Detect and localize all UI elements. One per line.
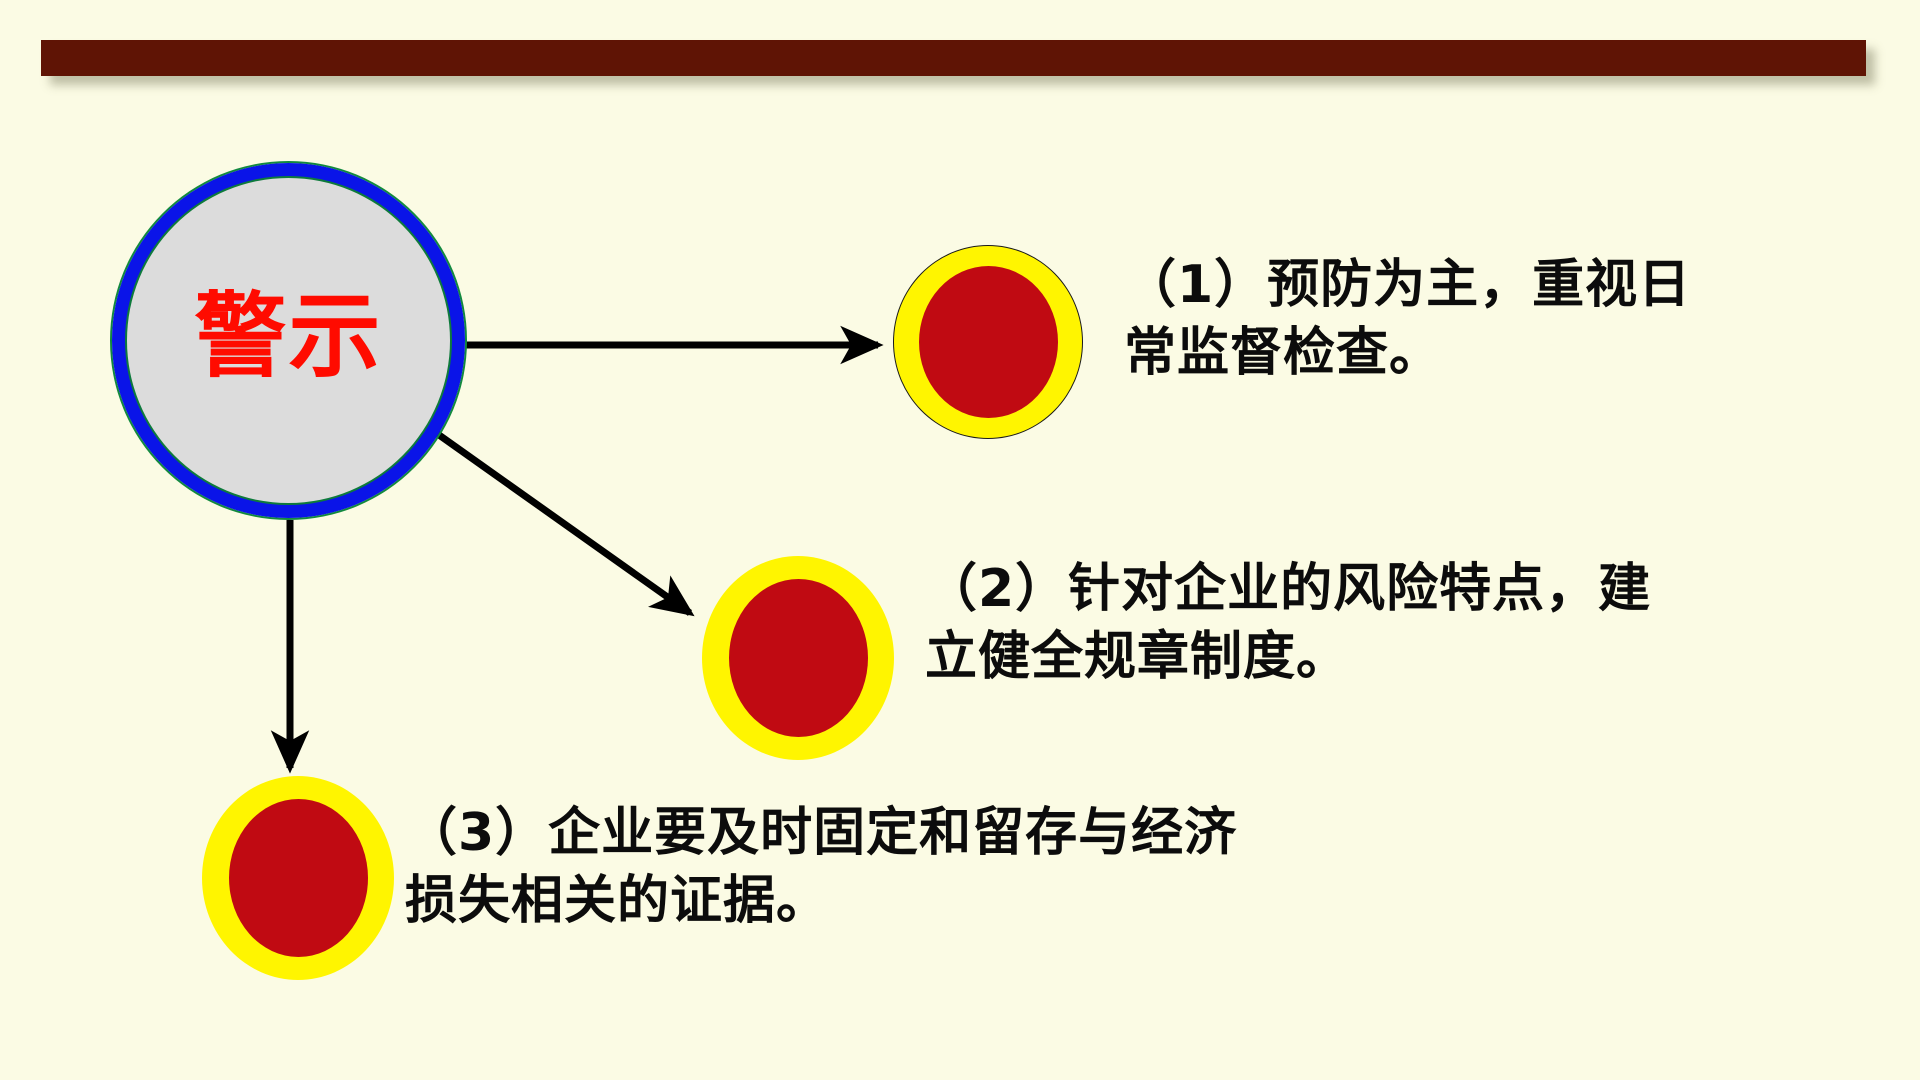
item-text-3: （3）企业要及时固定和留存与经济 损失相关的证据。 <box>405 800 1355 935</box>
item-text-1: （1）预防为主，重视日 常监督检查。 <box>1124 252 1844 387</box>
main-node-warning-circle[interactable]: 警示 <box>112 163 465 518</box>
arrow-main-to-item-2 <box>432 430 690 613</box>
slide-canvas: 警示 （1）预防为主，重视日 常监督检查。 （2）针对企业的风险特点，建 立健全… <box>0 0 1920 1080</box>
item-text-2: （2）针对企业的风险特点，建 立健全规章制度。 <box>925 556 1745 691</box>
decorative-title-bar <box>41 40 1866 76</box>
bullet-core-3 <box>229 799 368 957</box>
main-node-label: 警示 <box>194 291 382 383</box>
bullet-core-1 <box>919 266 1058 418</box>
bullet-core-2 <box>729 579 868 737</box>
